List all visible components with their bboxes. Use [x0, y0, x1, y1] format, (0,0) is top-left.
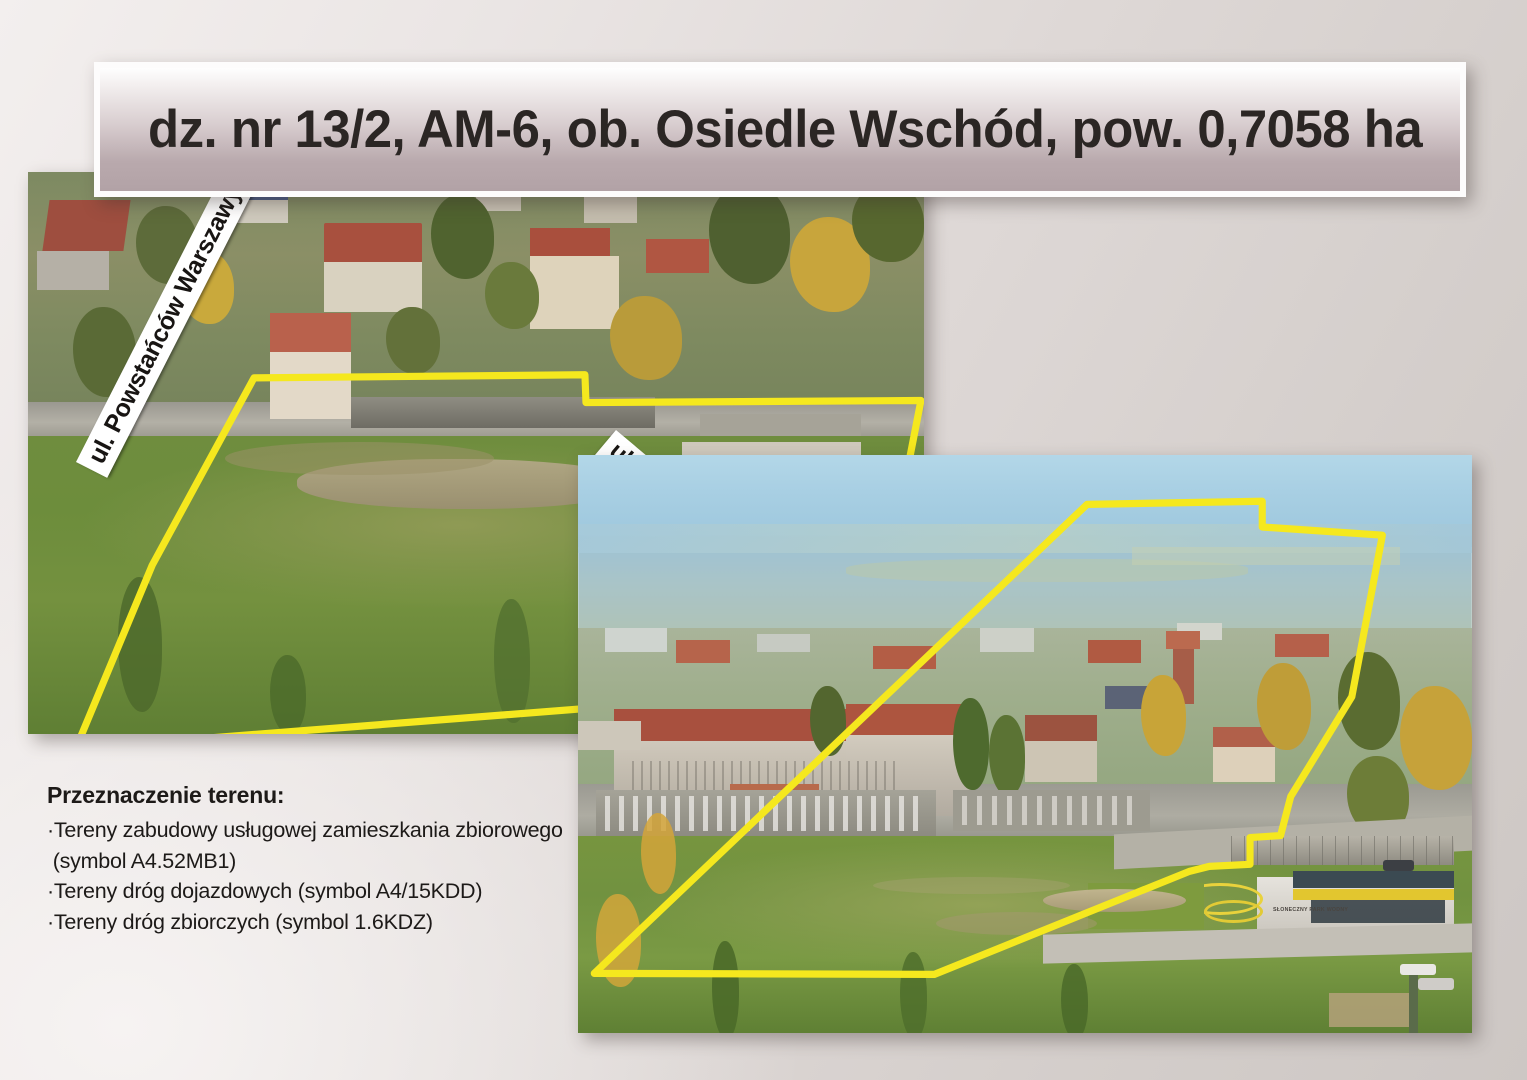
legend-list: ·Tereny zabudowy usługowej zamieszkania … [47, 815, 587, 937]
land-use-legend: Przeznaczenie terenu: ·Tereny zabudowy u… [47, 782, 587, 937]
aerial-photo-wide-image: SŁONECZNY PARK WODNY [578, 455, 1472, 1033]
list-item: ·Tereny dróg dojazdowych (symbol A4/15KD… [47, 876, 587, 907]
legend-heading: Przeznaczenie terenu: [47, 782, 587, 809]
title-banner: dz. nr 13/2, AM-6, ob. Osiedle Wschód, p… [94, 62, 1466, 197]
aerial-photo-wide: SŁONECZNY PARK WODNY [578, 455, 1472, 1033]
water-park-facade-sign: SŁONECZNY PARK WODNY [1273, 907, 1348, 913]
list-item: ·Tereny dróg zbiorczych (symbol 1.6KDZ) [47, 907, 587, 938]
list-item: ·Tereny zabudowy usługowej zamieszkania … [47, 815, 587, 876]
page-title: dz. nr 13/2, AM-6, ob. Osiedle Wschód, p… [100, 99, 1422, 160]
